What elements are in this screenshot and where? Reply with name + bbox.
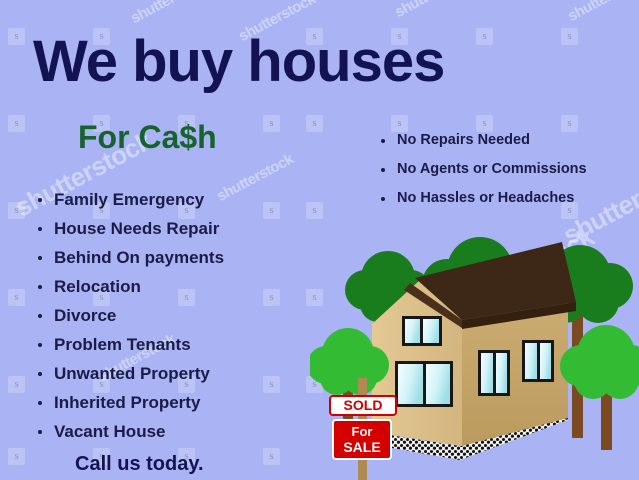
- window-front-right: [522, 340, 554, 382]
- reason-label: Family Emergency: [38, 185, 204, 214]
- reason-label: Problem Tenants: [38, 330, 191, 359]
- benefit-item: No Repairs Needed: [381, 126, 587, 155]
- reason-item: Inherited Property: [38, 388, 224, 417]
- watermark-tile: s: [8, 202, 25, 219]
- reason-item: Family Emergency: [38, 185, 224, 214]
- bullet-dot-icon: [38, 343, 42, 347]
- tree-front-right-icon: [560, 325, 639, 450]
- watermark-text: shutterstock: [565, 0, 639, 25]
- bullet-dot-icon: [38, 401, 42, 405]
- watermark-tile: s: [8, 376, 25, 393]
- reason-item: House Needs Repair: [38, 214, 224, 243]
- bullet-dot-icon: [38, 285, 42, 289]
- reason-label: Divorce: [38, 301, 116, 330]
- reason-item: Behind On payments: [38, 243, 224, 272]
- benefit-label: No Hassles or Headaches: [381, 184, 574, 213]
- watermark-tile: s: [306, 202, 323, 219]
- reason-item: Problem Tenants: [38, 330, 224, 359]
- reason-label: Unwanted Property: [38, 359, 210, 388]
- watermark-tile: s: [263, 115, 280, 132]
- reason-label: Vacant House: [38, 417, 166, 446]
- for-sale-sign-line1: For: [352, 424, 373, 439]
- page-title: We buy houses: [33, 28, 444, 95]
- watermark-tile: s: [8, 289, 25, 306]
- reason-item: Divorce: [38, 301, 224, 330]
- window-gable-lower: [395, 361, 453, 407]
- bullet-dot-icon: [38, 256, 42, 260]
- benefit-label: No Agents or Commissions: [381, 155, 587, 184]
- sold-sign-label: SOLD: [344, 397, 383, 413]
- reason-item: Unwanted Property: [38, 359, 224, 388]
- window-front-left: [478, 350, 510, 396]
- reason-item: Vacant House: [38, 417, 224, 446]
- window-gable-upper: [402, 316, 442, 346]
- bullet-dot-icon: [38, 430, 42, 434]
- watermark-tile: s: [8, 448, 25, 465]
- sold-sign: SOLD: [330, 396, 396, 415]
- watermark-tile: s: [263, 376, 280, 393]
- for-sale-sign: For SALE: [333, 420, 391, 459]
- watermark-tile: s: [476, 28, 493, 45]
- subheadline: For Ca$h: [78, 119, 217, 156]
- watermark-tile: s: [561, 28, 578, 45]
- reason-label: Behind On payments: [38, 243, 224, 272]
- benefits-list: No Repairs NeededNo Agents or Commission…: [381, 126, 587, 213]
- bullet-dot-icon: [38, 314, 42, 318]
- watermark-tile: s: [8, 28, 25, 45]
- bullet-dot-icon: [38, 227, 42, 231]
- benefit-label: No Repairs Needed: [381, 126, 530, 155]
- call-to-action-text: Call us today.: [75, 453, 204, 476]
- benefit-item: No Hassles or Headaches: [381, 184, 587, 213]
- watermark-tile: s: [306, 115, 323, 132]
- for-sale-sign-line2: SALE: [343, 439, 380, 455]
- reasons-list: Family EmergencyHouse Needs RepairBehind…: [38, 185, 224, 446]
- bullet-dot-icon: [381, 168, 385, 172]
- bullet-dot-icon: [381, 197, 385, 201]
- watermark-text: shutterstock: [214, 151, 296, 205]
- watermark-tile: s: [263, 448, 280, 465]
- watermark-tile: s: [8, 115, 25, 132]
- watermark-text: shutterstock: [128, 0, 210, 27]
- benefit-item: No Agents or Commissions: [381, 155, 587, 184]
- bullet-dot-icon: [381, 139, 385, 143]
- bullet-dot-icon: [38, 198, 42, 202]
- watermark-tile: s: [263, 202, 280, 219]
- reason-item: Relocation: [38, 272, 224, 301]
- poster-canvas: sssssssssssssssssssssssssssssssssss We b…: [0, 0, 639, 480]
- reason-label: Relocation: [38, 272, 141, 301]
- watermark-text: shutterstock: [392, 0, 474, 21]
- house-with-trees-illustration: SOLD For SALE: [310, 228, 639, 480]
- watermark-tile: s: [263, 289, 280, 306]
- bullet-dot-icon: [38, 372, 42, 376]
- reason-label: Inherited Property: [38, 388, 200, 417]
- reason-label: House Needs Repair: [38, 214, 219, 243]
